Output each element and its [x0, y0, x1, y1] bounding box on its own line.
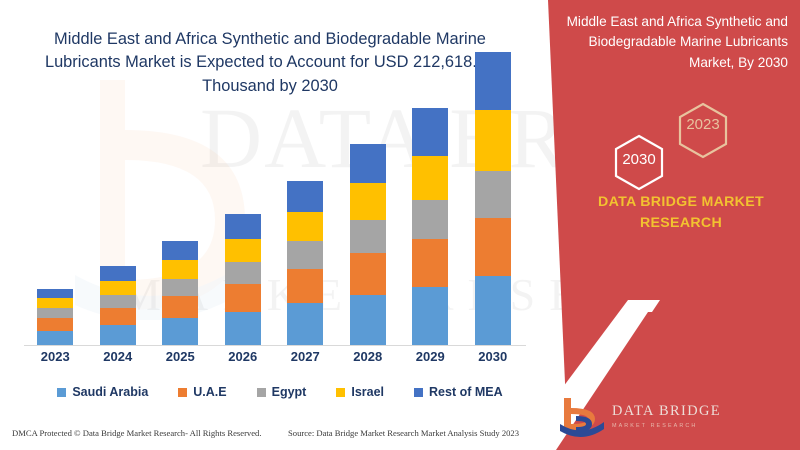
bar-segment [37, 318, 73, 330]
bar-segment [287, 269, 323, 303]
bar-segment [162, 318, 198, 345]
bar-segment [162, 260, 198, 279]
bar-segment [412, 239, 448, 288]
logo-title: DATA BRIDGE [612, 403, 736, 420]
panel-content: Middle East and Africa Synthetic and Bio… [548, 0, 800, 450]
bar-segment [100, 281, 136, 295]
hexagon-badges: 2030 2023 [592, 96, 792, 196]
brand-name: DATA BRIDGE MARKET RESEARCH [576, 192, 786, 233]
bar-segment [475, 52, 511, 110]
bar-segment [287, 181, 323, 212]
bar-segment [350, 183, 386, 220]
bar-segment [412, 200, 448, 239]
legend-swatch [257, 388, 266, 397]
bar-segment [162, 296, 198, 318]
x-axis-tick-label: 2030 [463, 349, 523, 364]
bar-group [287, 181, 323, 345]
legend-item[interactable]: Rest of MEA [414, 385, 503, 399]
bar-group [475, 52, 511, 345]
bar-segment [350, 295, 386, 345]
logo-mark-icon [558, 396, 608, 438]
x-axis-line [24, 345, 526, 346]
bar-segment [225, 284, 261, 312]
hexagon-2030-label: 2030 [606, 151, 672, 168]
bar-segment [350, 220, 386, 253]
bar-segment [287, 303, 323, 345]
x-axis-tick-label: 2027 [275, 349, 335, 364]
bar-segment [100, 308, 136, 325]
legend-label: Rest of MEA [429, 385, 503, 399]
bar-segment [475, 276, 511, 345]
bar-segment [225, 214, 261, 238]
x-axis-tick-label: 2029 [400, 349, 460, 364]
x-axis-tick-label: 2024 [88, 349, 148, 364]
bar-segment [475, 218, 511, 277]
legend-item[interactable]: Egypt [257, 385, 307, 399]
hexagon-2023-label: 2023 [670, 116, 736, 133]
x-axis-labels: 20232024202520262027202820292030 [24, 349, 524, 369]
bar-segment [37, 331, 73, 345]
bar-segment [37, 298, 73, 308]
legend-swatch [178, 388, 187, 397]
bar-segment [475, 110, 511, 171]
legend-item[interactable]: Israel [336, 385, 384, 399]
logo-subtitle: MARKET RESEARCH [612, 423, 736, 429]
x-axis-tick-label: 2023 [25, 349, 85, 364]
chart-plot-area [24, 80, 524, 346]
bar-group [412, 108, 448, 345]
bar-segment [412, 287, 448, 345]
bar-segment [412, 156, 448, 200]
legend-label: Israel [351, 385, 384, 399]
bar-segment [287, 241, 323, 269]
bar-segment [37, 289, 73, 299]
bar-group [162, 241, 198, 345]
bar-group [37, 289, 73, 346]
legend-swatch [414, 388, 423, 397]
x-axis-tick-label: 2028 [338, 349, 398, 364]
infographic-page: DATA BRIDGE MARKET RESEARCH Middle East … [0, 0, 800, 450]
bar-segment [350, 253, 386, 295]
legend-label: Egypt [272, 385, 307, 399]
legend-swatch [57, 388, 66, 397]
bar-segment [100, 295, 136, 308]
legend-label: Saudi Arabia [72, 385, 148, 399]
bar-segment [225, 239, 261, 262]
x-axis-tick-label: 2026 [213, 349, 273, 364]
bar-segment [287, 212, 323, 241]
bar-group [225, 214, 261, 345]
legend-item[interactable]: Saudi Arabia [57, 385, 148, 399]
bar-segment [100, 325, 136, 345]
bar-group [100, 266, 136, 345]
legend-swatch [336, 388, 345, 397]
bar-segment [475, 171, 511, 218]
stacked-bar-chart [0, 80, 540, 348]
data-bridge-logo: DATA BRIDGE MARKET RESEARCH [558, 396, 738, 440]
legend-label: U.A.E [193, 385, 226, 399]
panel-title: Middle East and Africa Synthetic and Bio… [552, 12, 788, 73]
logo-wordmark: DATA BRIDGE MARKET RESEARCH [612, 403, 736, 429]
bar-segment [37, 308, 73, 318]
bar-segment [225, 262, 261, 284]
bar-segment [412, 108, 448, 156]
bar-segment [350, 144, 386, 183]
hexagon-shapes [592, 96, 792, 196]
bar-segment [225, 312, 261, 345]
footer-dmca-notice: DMCA Protected © Data Bridge Market Rese… [12, 428, 262, 438]
bar-group [350, 144, 386, 345]
bar-segment [100, 266, 136, 280]
bar-segment [162, 241, 198, 260]
bar-segment [162, 279, 198, 297]
footer-source-note: Source: Data Bridge Market Research Mark… [288, 428, 519, 438]
legend-item[interactable]: U.A.E [178, 385, 226, 399]
chart-legend: Saudi ArabiaU.A.EEgyptIsraelRest of MEA [20, 381, 540, 403]
x-axis-tick-label: 2025 [150, 349, 210, 364]
